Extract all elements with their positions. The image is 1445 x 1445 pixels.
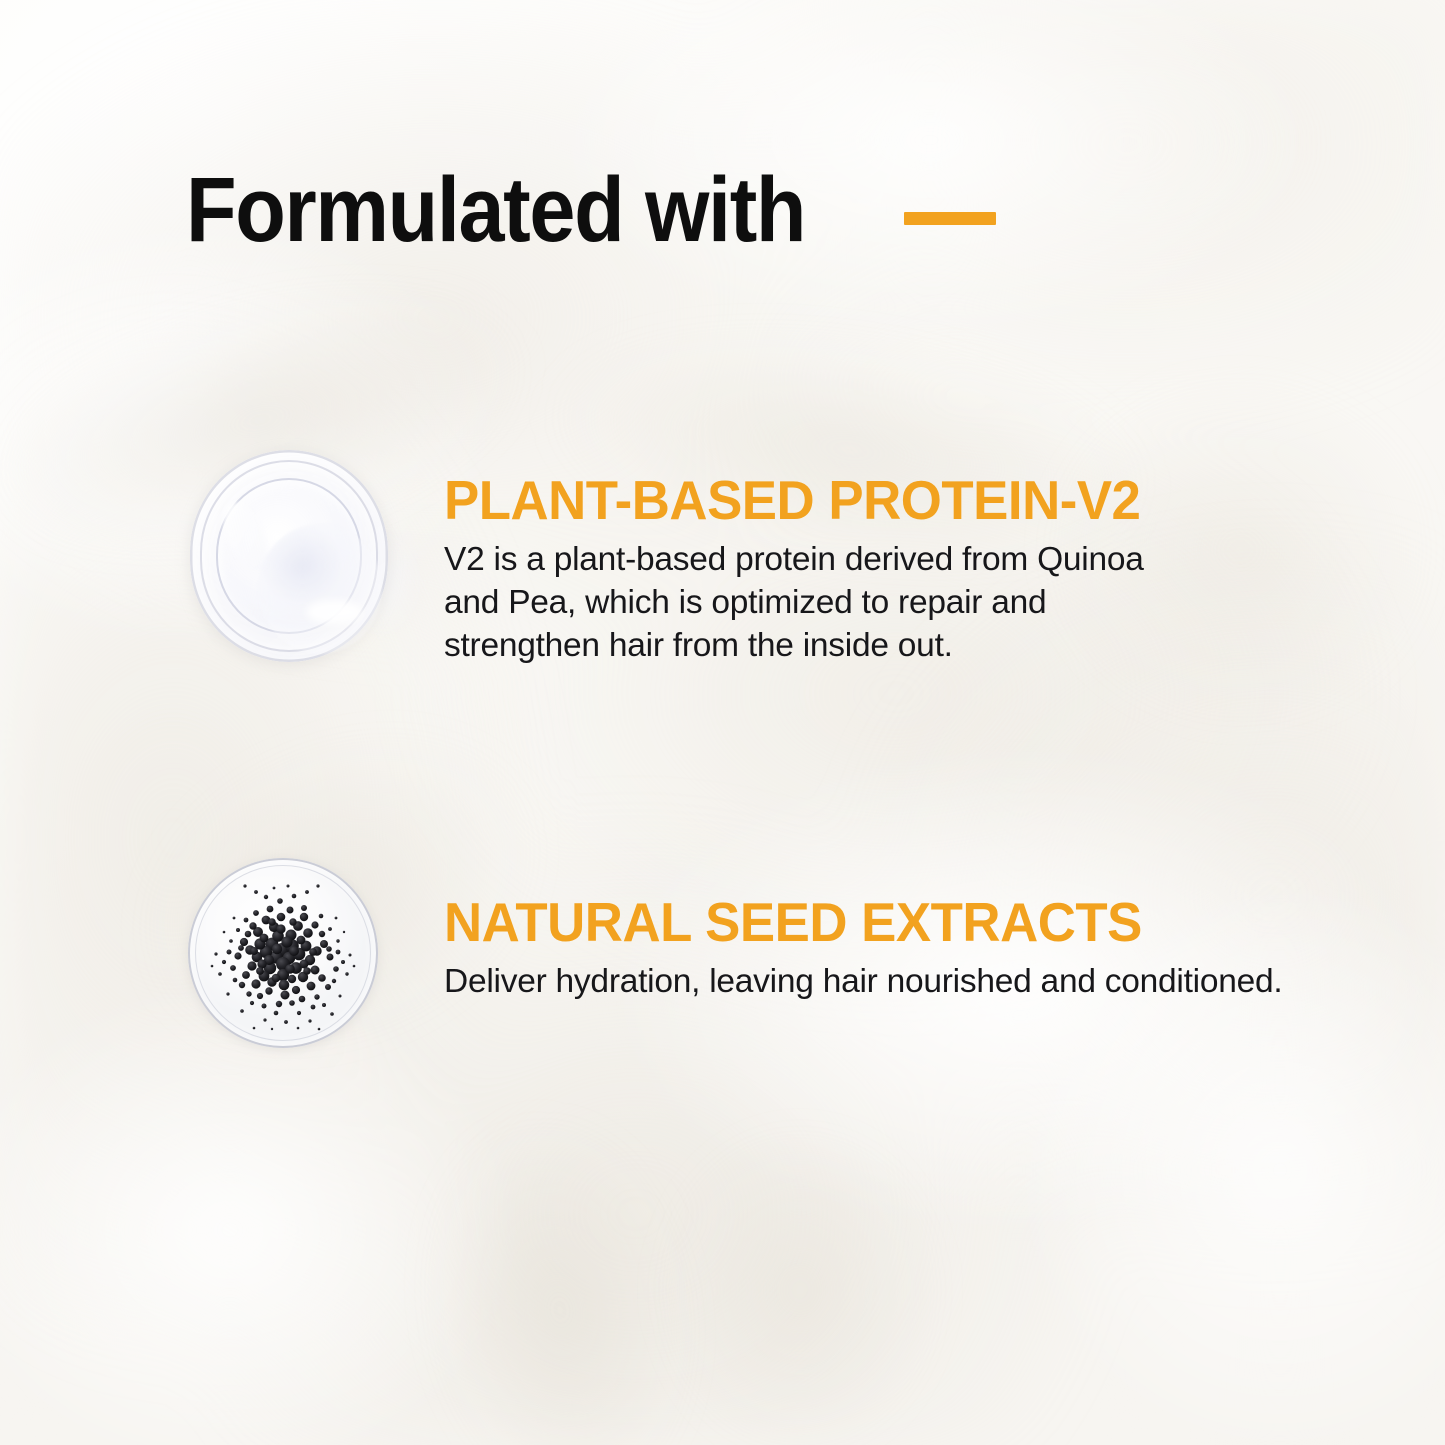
ingredient-description-seeds: Deliver hydration, leaving hair nourishe…: [444, 960, 1284, 1003]
ingredient-description-protein: V2 is a plant-based protein derived from…: [444, 538, 1204, 667]
glass-liquid: [258, 524, 382, 654]
product-infographic: Formulated with PLANT-BASED PROTEIN-V2 V…: [0, 0, 1445, 1445]
ingredient-copy-seeds: NATURAL SEED EXTRACTS Deliver hydration,…: [444, 894, 1284, 1003]
petri-dish-seeds-icon: [186, 856, 386, 1056]
page-title-text: Formulated with: [186, 164, 805, 256]
clear-glass-vessel-icon: [188, 448, 398, 678]
seed-cluster: [186, 856, 380, 1050]
glass-highlight-bottom: [306, 600, 362, 624]
orange-dash-icon: [904, 212, 996, 225]
page-title: Formulated with: [186, 164, 996, 256]
ingredient-copy-protein: PLANT-BASED PROTEIN-V2 V2 is a plant-bas…: [444, 472, 1214, 667]
ingredient-title-seeds: NATURAL SEED EXTRACTS: [444, 894, 1250, 950]
ingredient-title-protein: PLANT-BASED PROTEIN-V2: [444, 472, 1183, 528]
